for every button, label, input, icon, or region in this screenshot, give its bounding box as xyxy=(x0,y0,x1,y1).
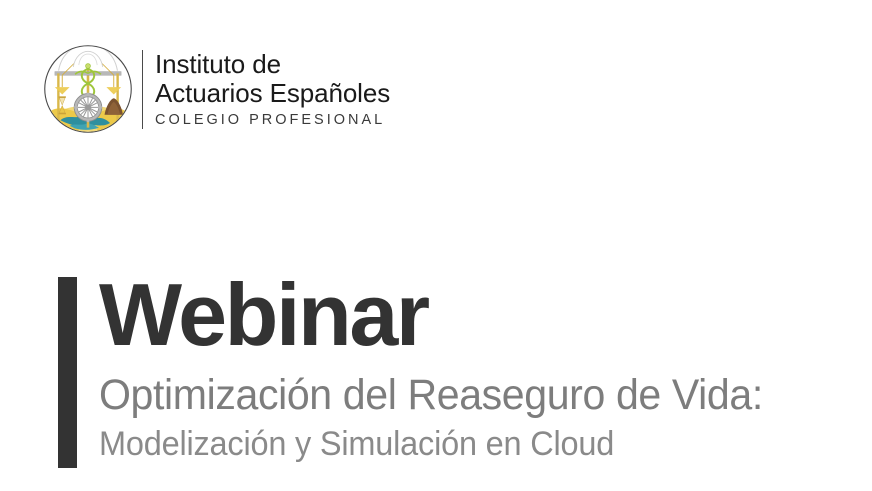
title-block: Webinar Optimización del Reaseguro de Vi… xyxy=(58,277,794,468)
organization-subtitle: COLEGIO PROFESIONAL xyxy=(155,111,390,129)
logo-divider xyxy=(142,50,143,129)
subtitle-line-2: Modelización y Simulación en Cloud xyxy=(99,425,763,463)
organization-name-line2: Actuarios Españoles xyxy=(155,79,390,108)
webinar-title-slide: Instituto de Actuarios Españoles COLEGIO… xyxy=(0,0,872,491)
title-text-group: Webinar Optimización del Reaseguro de Vi… xyxy=(99,277,794,468)
logo-text-block: Instituto de Actuarios Españoles COLEGIO… xyxy=(155,50,390,129)
accent-bar xyxy=(58,277,77,468)
institution-logo-lockup: Instituto de Actuarios Españoles COLEGIO… xyxy=(42,43,390,135)
page-title: Webinar xyxy=(99,271,794,359)
organization-name-line1: Instituto de xyxy=(155,50,390,79)
instituto-actuarios-emblem-icon xyxy=(42,43,134,135)
subtitle-line-1: Optimización del Reaseguro de Vida: xyxy=(99,371,763,419)
